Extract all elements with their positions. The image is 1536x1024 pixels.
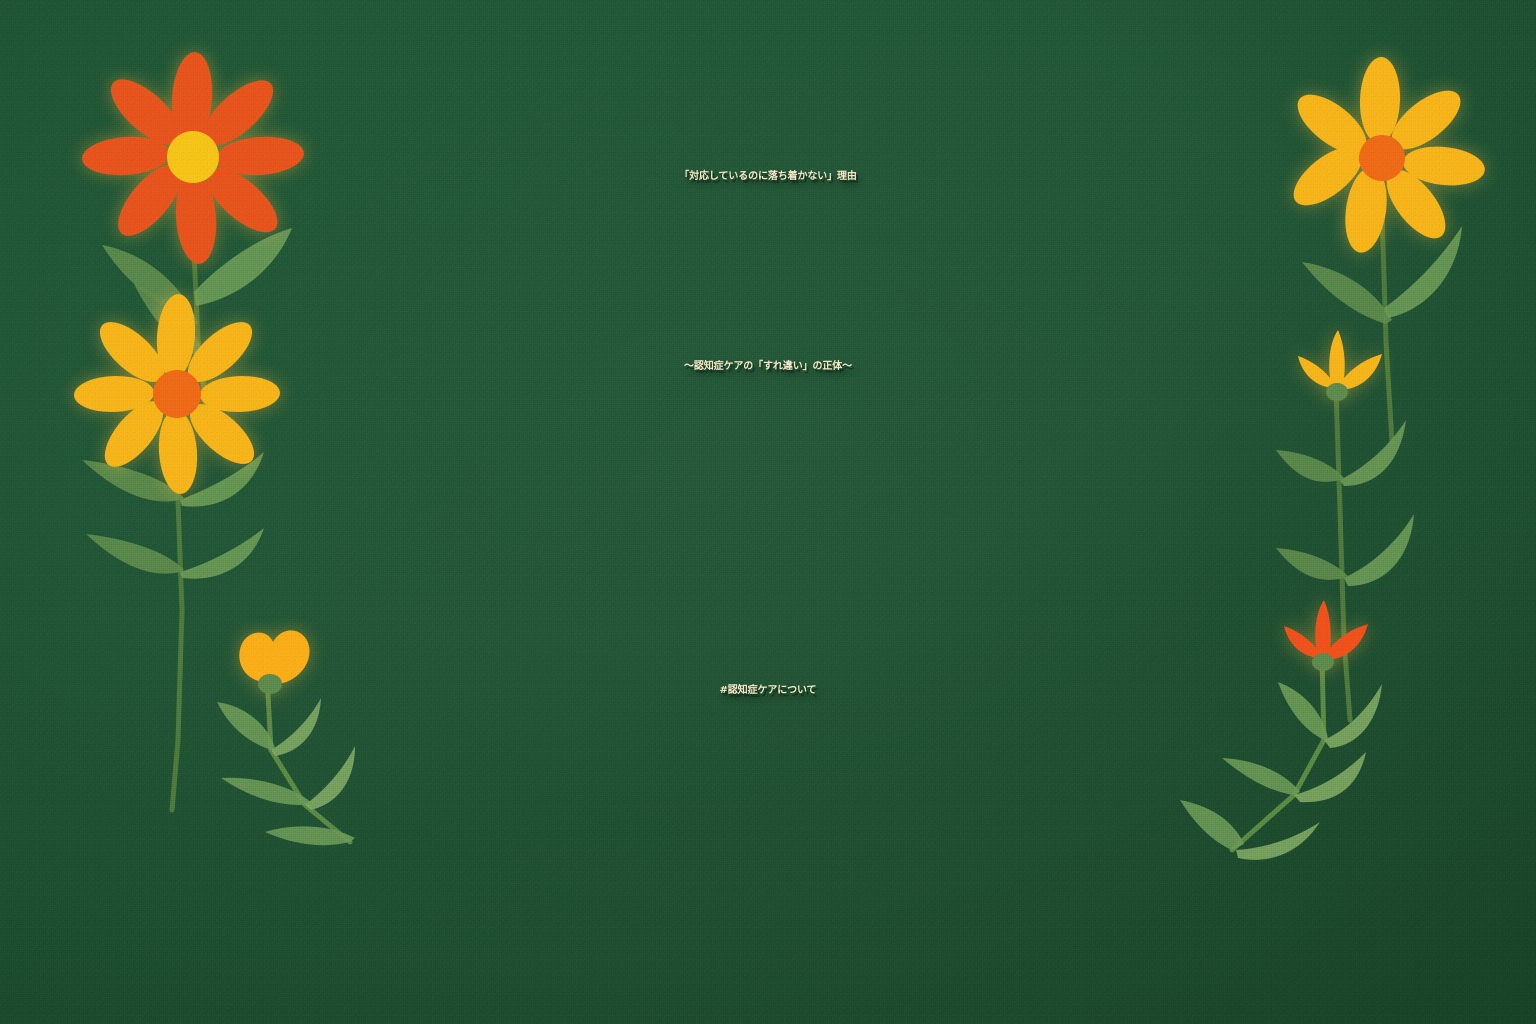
page-subtitle: 〜認知症ケアの「すれ違い」の正体〜: [0, 362, 1536, 373]
title-card: 「対応しているのに落ち着かない」理由 〜認知症ケアの「すれ違い」の正体〜 #認知…: [0, 0, 1536, 1024]
page-title: 「対応しているのに落ち着かない」理由: [0, 172, 1536, 183]
text-block: 「対応しているのに落ち着かない」理由 〜認知症ケアの「すれ違い」の正体〜 #認知…: [0, 0, 1536, 1024]
hashtag-label: #認知症ケアについて: [0, 686, 1536, 697]
